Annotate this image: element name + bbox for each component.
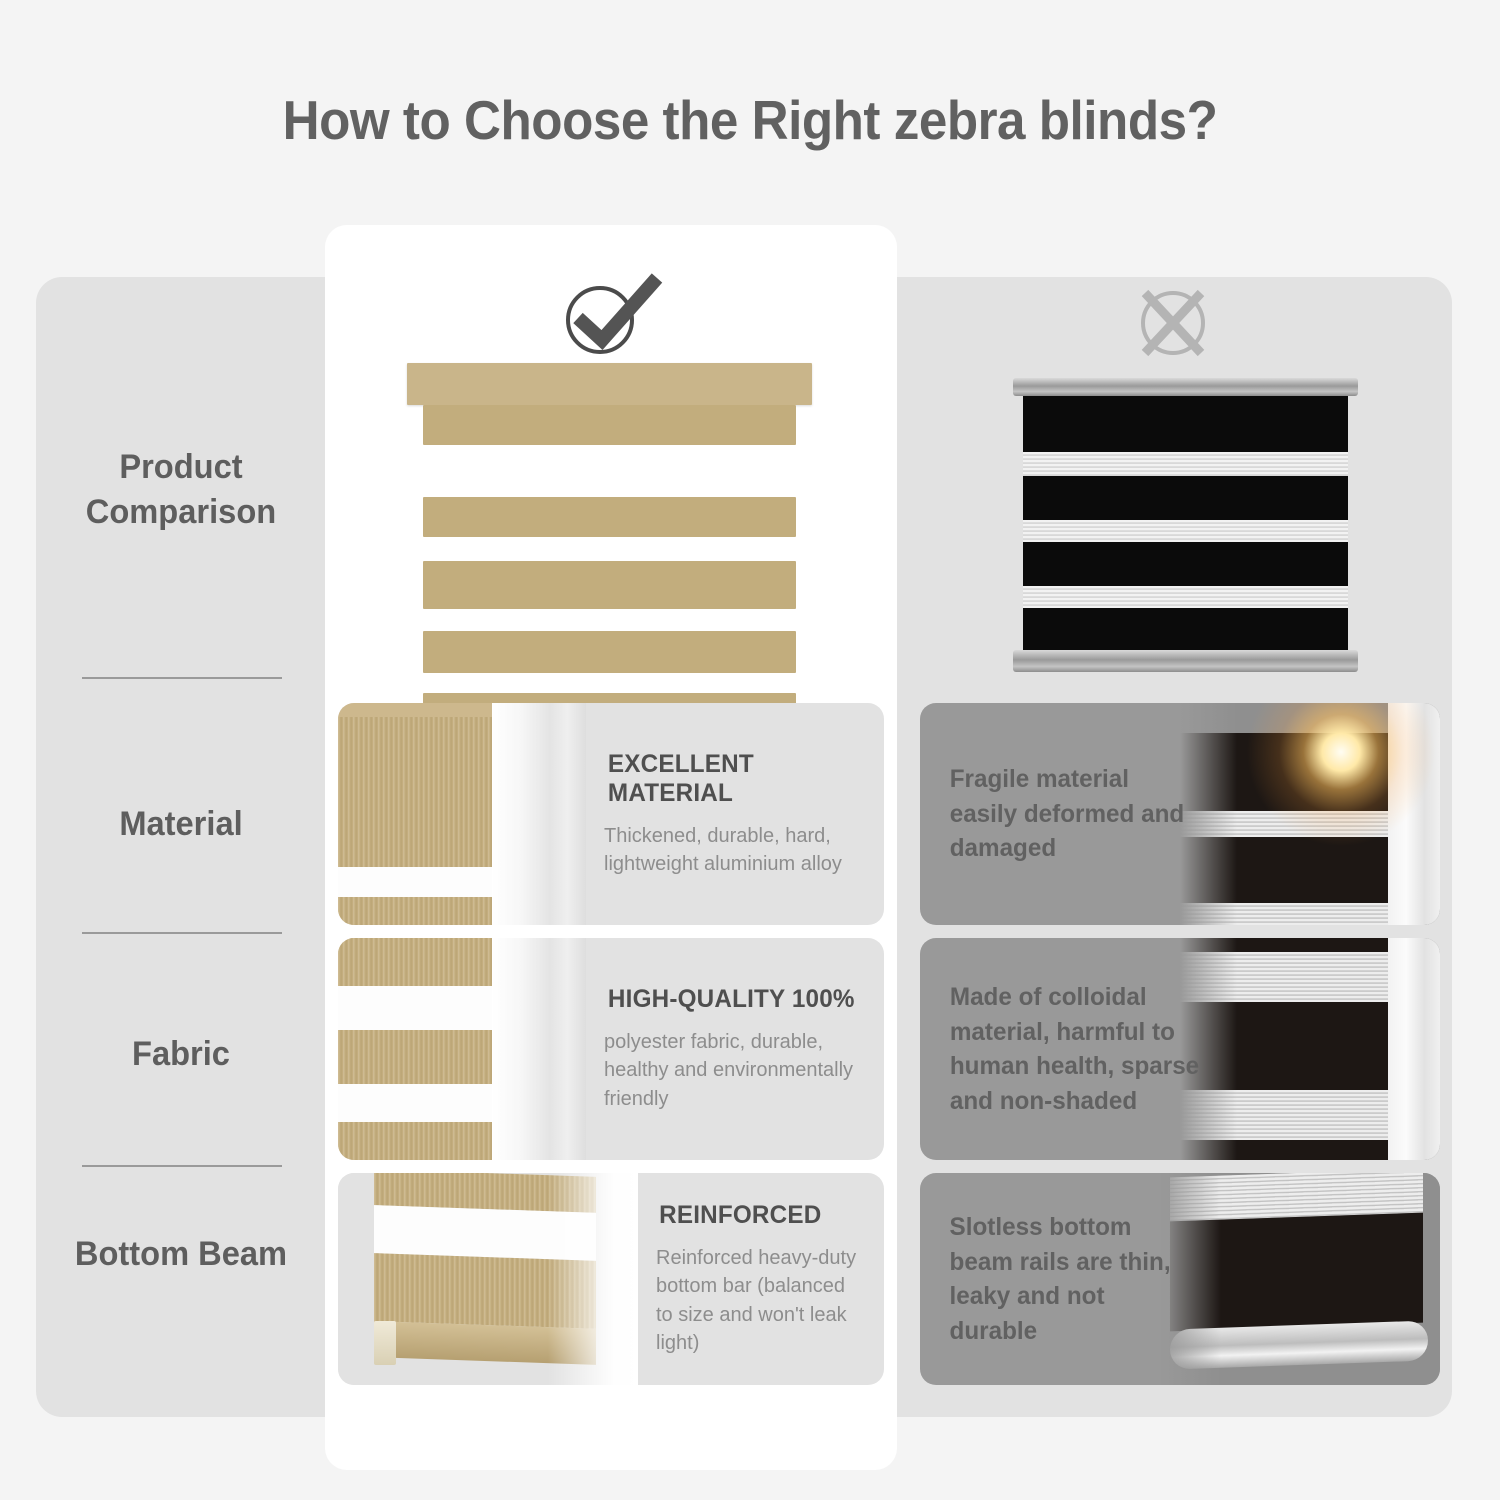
row-divider-1 xyxy=(82,677,282,679)
blind-headrail xyxy=(407,363,812,405)
bad-band-dark-2 xyxy=(1023,476,1347,520)
row-label-material: Material xyxy=(42,802,320,847)
blind-band-1 xyxy=(423,405,796,445)
good-card-material: EXCELLENT MATERIAL Thickened, durable, h… xyxy=(338,703,884,925)
good-bottom-beam-desc: Reinforced heavy-duty bottom bar (balanc… xyxy=(656,1244,866,1358)
good-card-bottom-beam: REINFORCED Reinforced heavy-duty bottom … xyxy=(338,1173,884,1385)
check-circle-icon xyxy=(556,272,666,365)
good-fabric-desc: polyester fabric, durable, healthy and e… xyxy=(604,1028,866,1113)
bad-band-dark-1 xyxy=(1023,396,1347,452)
cross-circle-icon xyxy=(1133,283,1213,366)
good-card-fabric: HIGH-QUALITY 100% polyester fabric, dura… xyxy=(338,938,884,1160)
good-card-material-text: EXCELLENT MATERIAL Thickened, durable, h… xyxy=(586,703,884,925)
good-card-material-photo xyxy=(338,703,586,925)
row-divider-2 xyxy=(82,932,282,934)
bad-card-bottom-beam-text: Slotless bottom beam rails are thin, lea… xyxy=(920,1173,1201,1385)
bad-fabric-text: Made of colloidal material, harmful to h… xyxy=(950,980,1200,1118)
bad-hero-image xyxy=(1013,378,1358,678)
row-label-fabric: Fabric xyxy=(42,1032,320,1077)
good-card-bottom-beam-text: REINFORCED Reinforced heavy-duty bottom … xyxy=(638,1173,884,1385)
row-divider-3 xyxy=(82,1165,282,1167)
row-label-product-comparison: Product Comparison xyxy=(42,445,320,535)
bad-card-fabric: Made of colloidal material, harmful to h… xyxy=(920,938,1440,1160)
good-card-bottom-beam-photo xyxy=(338,1173,638,1385)
bad-card-material-photo xyxy=(1180,703,1440,925)
bad-band-sheer-1 xyxy=(1023,452,1347,476)
bad-band-sheer-2 xyxy=(1023,520,1347,542)
bad-band-sheer-3 xyxy=(1023,586,1347,608)
row-label-bottom-beam: Bottom Beam xyxy=(42,1232,320,1277)
bad-card-material-text: Fragile material easily deformed and dam… xyxy=(920,703,1211,925)
blind-band-3 xyxy=(423,561,796,609)
bad-band-dark-4 xyxy=(1023,608,1347,650)
good-material-desc: Thickened, durable, hard, lightweight al… xyxy=(604,822,866,879)
blind-band-4 xyxy=(423,631,796,673)
bad-blind-headrail xyxy=(1013,378,1358,396)
bad-card-material: Fragile material easily deformed and dam… xyxy=(920,703,1440,925)
bad-material-text: Fragile material easily deformed and dam… xyxy=(950,762,1190,866)
bad-card-bottom-beam: Slotless bottom beam rails are thin, lea… xyxy=(920,1173,1440,1385)
bad-band-dark-3 xyxy=(1023,542,1347,586)
row-label-column: Product Comparison Material Fabric Botto… xyxy=(36,277,326,1417)
page-title: How to Choose the Right zebra blinds? xyxy=(53,88,1448,152)
bad-bottom-beam-text: Slotless bottom beam rails are thin, lea… xyxy=(950,1210,1180,1348)
blind-band-2 xyxy=(423,497,796,537)
good-material-title: EXCELLENT MATERIAL xyxy=(608,750,862,808)
bad-card-fabric-text: Made of colloidal material, harmful to h… xyxy=(920,938,1222,1160)
good-hero-image xyxy=(407,355,812,695)
good-fabric-title: HIGH-QUALITY 100% xyxy=(608,985,862,1014)
good-card-fabric-photo xyxy=(338,938,586,1160)
bad-card-bottom-beam-photo xyxy=(1159,1173,1440,1385)
good-card-fabric-text: HIGH-QUALITY 100% polyester fabric, dura… xyxy=(586,938,884,1160)
bad-blind-bottom-rail xyxy=(1013,650,1358,672)
bottom-bar-end-cap xyxy=(374,1321,396,1365)
good-bottom-beam-title: REINFORCED xyxy=(659,1201,863,1230)
